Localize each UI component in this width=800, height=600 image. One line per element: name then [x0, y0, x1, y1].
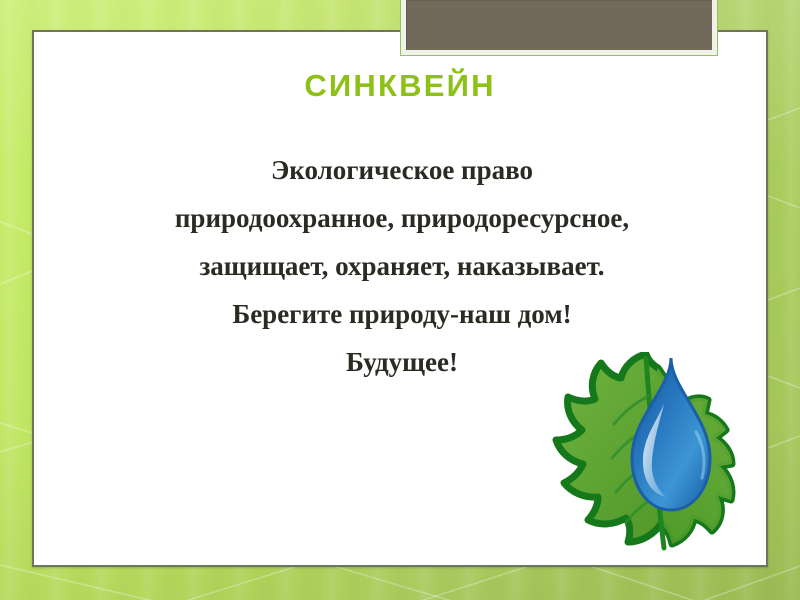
page-title: СИНКВЕЙН — [32, 68, 768, 104]
cinquain-text-block: Экологическое право природоохранное, при… — [52, 146, 752, 386]
cinquain-line-4: Берегите природу-наш дом! — [52, 290, 752, 338]
presentation-slide: СИНКВЕЙН Экологическое право природоохра… — [0, 0, 800, 600]
cinquain-line-2: природоохранное, природоресурсное, — [52, 194, 752, 242]
image-placeholder[interactable] — [400, 0, 718, 56]
cinquain-line-3: защищает, охраняет, наказывает. — [52, 242, 752, 290]
cinquain-line-5: Будущее! — [52, 338, 752, 386]
image-placeholder-fill — [406, 0, 712, 50]
cinquain-line-1: Экологическое право — [52, 146, 752, 194]
